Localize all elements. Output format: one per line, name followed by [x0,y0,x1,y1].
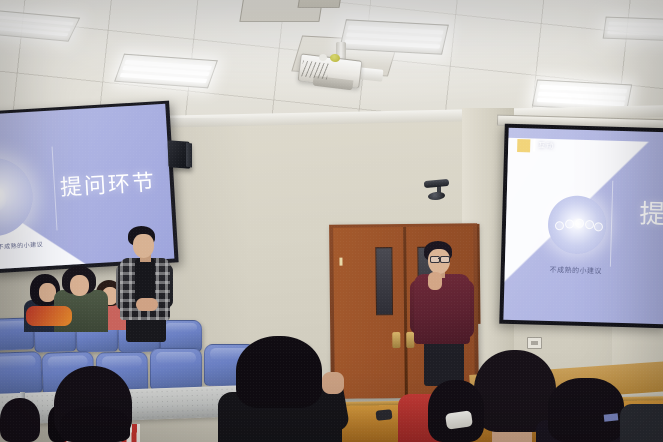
classroom-photo: 不成熟的小建议 提问环节 互动 不成熟的小建议 提问 [0,0,663,442]
presenter-torso [414,274,470,344]
slide-caption: 不成熟的小建议 [543,265,609,277]
projector-vent [301,60,329,79]
foreground-student-hair [60,406,130,442]
glasses-icon [440,256,450,263]
phone-on-desk[interactable] [376,409,393,421]
light-tube [344,39,440,48]
small-item-on-desk[interactable] [604,413,619,421]
wall-speaker-side [186,142,192,167]
wall-power-outlet [527,337,542,349]
presenter-face [133,234,154,258]
light-tube [607,31,663,37]
slide-section-label: 互动 [538,141,554,151]
slide-figure-icon [594,222,603,231]
slide-title: 提问环节 [59,165,157,203]
seated-student-scarf [26,306,72,326]
right-projection-screen: 互动 不成熟的小建议 提问 [503,128,663,324]
seated-student-face [70,275,89,296]
projector-knob [319,54,327,61]
door-glass-panel [375,247,393,315]
student-hair [428,380,484,442]
slide-title: 提问 [639,193,663,231]
foreground-student-shoulder [620,404,663,442]
student-hair [548,378,624,442]
door-handle[interactable] [392,332,400,348]
ceiling-duct-secondary [297,0,344,8]
student-hair [236,336,322,408]
door-hinge [339,258,342,266]
presenter-hands [136,298,158,311]
presenter-raised-hand [428,272,442,290]
slide-figure-icon [555,221,564,230]
slide-figure-icon [585,220,594,229]
foreground-student-hair [0,398,40,442]
lecture-seat[interactable] [0,351,43,395]
student-hand [322,372,344,394]
ceiling-light-panel [339,19,449,54]
door-center-seam [403,227,408,398]
lecture-seat[interactable] [150,348,202,390]
slide-section-badge [517,139,530,152]
glasses-bridge [438,258,441,259]
ceiling-light-panel [603,17,663,42]
right-projection-screen-frame: 互动 不成熟的小建议 提问 [499,124,663,329]
slide-badge-bar [533,138,535,151]
